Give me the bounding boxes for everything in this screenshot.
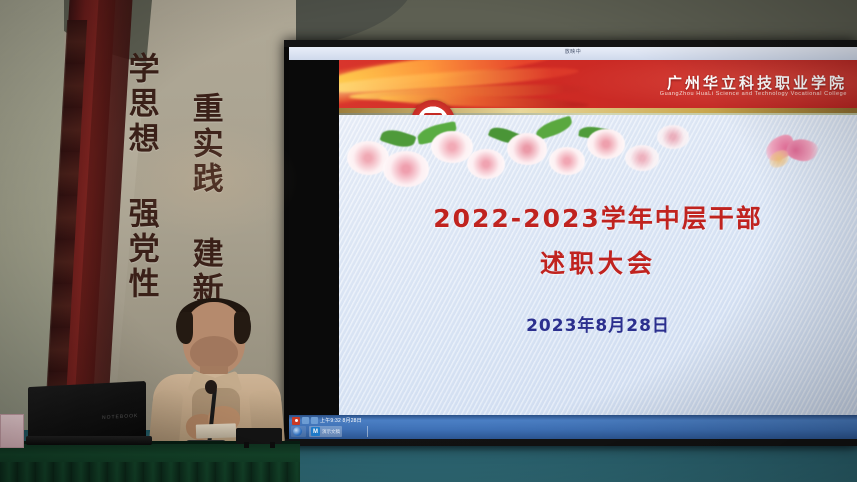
blossom-icon — [467, 149, 505, 179]
display-screen[interactable]: 放映中 广州华立科技职业学院 GuangZhou HuaLi Science a… — [289, 47, 857, 439]
browser-icon[interactable] — [293, 427, 302, 436]
face-shadow — [190, 336, 238, 370]
blossom-icon — [507, 133, 547, 165]
window-title-text: 放映中 — [565, 48, 582, 55]
powerpoint-slide[interactable]: 广州华立科技职业学院 GuangZhou HuaLi Science and T… — [339, 60, 857, 415]
laptop-base — [26, 436, 152, 445]
taskbar-clock[interactable]: 上午9:32 8月28日 — [320, 417, 362, 424]
university-name-en: GuangZhou HuaLi Science and Technology V… — [660, 91, 847, 97]
microphone-head-icon — [205, 380, 217, 394]
window-titlebar: 放映中 — [289, 47, 857, 60]
slide-date: 2023年8月28日 — [339, 311, 857, 336]
banner-slogan-left: 学思想 强党性 — [124, 52, 156, 302]
laptop: NOTEBOOK — [28, 384, 146, 446]
alert-icon[interactable] — [292, 417, 300, 425]
network-icon[interactable] — [302, 417, 309, 424]
laptop-lid — [28, 381, 146, 443]
butterfly-icon — [763, 135, 819, 171]
pink-poster — [0, 414, 24, 448]
taskbar-start-button[interactable] — [291, 426, 306, 437]
slide-title-line-1: 2022-2023学年中层干部 — [339, 199, 857, 235]
windows-taskbar[interactable]: 上午9:32 8月28日 M 演示文稿 — [289, 415, 857, 439]
taskbar-app-buttons[interactable]: M 演示文稿 — [291, 426, 342, 437]
blossom-icon — [625, 145, 659, 171]
device-leg-right — [270, 442, 275, 448]
taskbar-app-powerpoint[interactable]: M 演示文稿 — [309, 426, 342, 437]
hair-side-left — [176, 312, 193, 344]
hair-side-right — [234, 312, 251, 344]
blossom-icon — [549, 147, 585, 175]
presentation-icon[interactable]: M — [311, 427, 320, 436]
presentation-display[interactable]: 放映中 广州华立科技职业学院 GuangZhou HuaLi Science a… — [284, 40, 857, 446]
slide-title-line-2: 述职大会 — [339, 244, 857, 280]
display-bezel-top — [284, 40, 857, 47]
blossom-icon — [587, 129, 625, 159]
taskbar-divider — [367, 426, 368, 437]
desk-device — [236, 428, 282, 444]
table-skirt — [0, 462, 300, 482]
taskbar-app2-label: 演示文稿 — [322, 429, 340, 435]
display-bezel-bottom — [284, 439, 857, 446]
blossom-icon — [657, 125, 689, 149]
slide-header-band: 广州华立科技职业学院 GuangZhou HuaLi Science and T… — [339, 60, 857, 112]
university-name-cn: 广州华立科技职业学院 — [667, 72, 847, 93]
slide-letterbox-left — [289, 60, 339, 415]
paper-document — [196, 423, 236, 438]
slide-body: 2022-2023学年中层干部 述职大会 2023年8月28日 — [339, 115, 857, 415]
conference-room-photo: 学思想 强党性 重实践 建新功 放映中 广州华立科技职业学院 GuangZ — [0, 0, 857, 482]
slide-title-block: 2022-2023学年中层干部 述职大会 — [339, 199, 857, 280]
blossom-icon — [431, 131, 473, 163]
taskbar-tray[interactable]: 上午9:32 8月28日 — [292, 416, 362, 425]
volume-icon[interactable] — [311, 417, 318, 424]
device-leg-left — [244, 442, 249, 448]
blossom-icon — [383, 151, 429, 187]
